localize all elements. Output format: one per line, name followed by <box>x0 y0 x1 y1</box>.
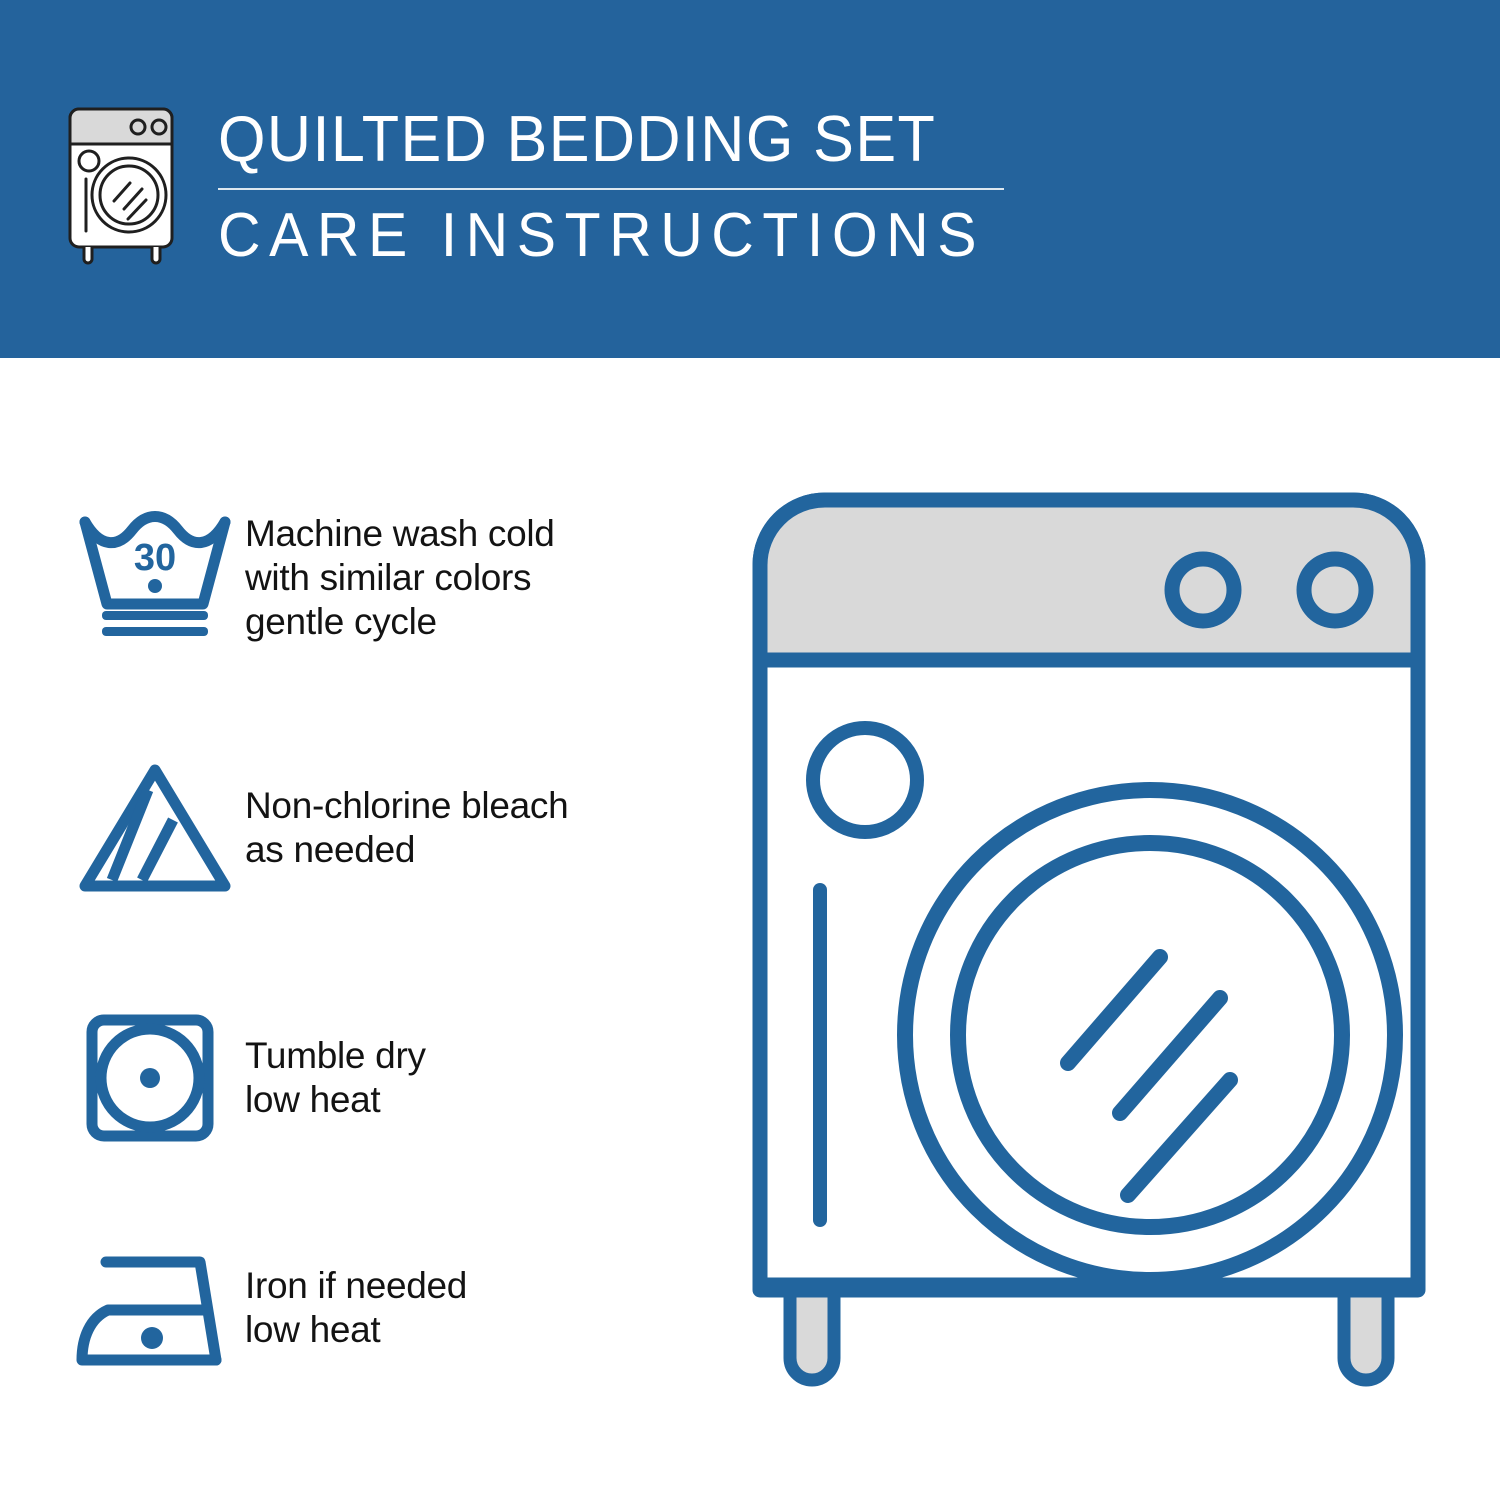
detergent-dispenser-circle <box>813 728 917 832</box>
tumble-dry-low-icon <box>70 1008 245 1148</box>
control-knob-right <box>1304 559 1366 621</box>
page-subtitle: CARE INSTRUCTIONS <box>218 198 978 274</box>
non-chlorine-bleach-triangle-icon <box>70 758 245 898</box>
care-instruction-list: 30 Machine wash cold with similar colors… <box>0 358 740 1500</box>
care-row-iron: Iron if needed low heat <box>70 1238 710 1378</box>
care-row-tumble-dry: Tumble dry low heat <box>70 1008 710 1148</box>
header-band: QUILTED BEDDING SET CARE INSTRUCTIONS <box>0 0 1500 358</box>
machine-wash-tub-icon: 30 <box>70 508 245 648</box>
wash-temperature-label: 30 <box>134 537 176 579</box>
care-row-bleach: Non-chlorine bleach as needed <box>70 758 710 898</box>
front-load-washing-machine-illustration <box>740 480 1460 1410</box>
care-instructions-infographic: QUILTED BEDDING SET CARE INSTRUCTIONS 30 <box>0 0 1500 1500</box>
care-row-label: Machine wash cold with similar colors ge… <box>245 512 710 644</box>
header-divider <box>218 188 1004 190</box>
care-row-label: Non-chlorine bleach as needed <box>245 784 710 872</box>
header-text-block: QUILTED BEDDING SET CARE INSTRUCTIONS <box>218 100 1018 274</box>
care-row-label: Iron if needed low heat <box>245 1264 710 1352</box>
control-knob-left <box>1172 559 1234 621</box>
iron-low-heat-icon <box>70 1238 245 1378</box>
washing-machine-logo-icon <box>62 105 192 265</box>
care-row-machine-wash: 30 Machine wash cold with similar colors… <box>70 508 710 648</box>
page-title: QUILTED BEDDING SET <box>218 100 970 178</box>
care-row-label: Tumble dry low heat <box>245 1034 710 1122</box>
